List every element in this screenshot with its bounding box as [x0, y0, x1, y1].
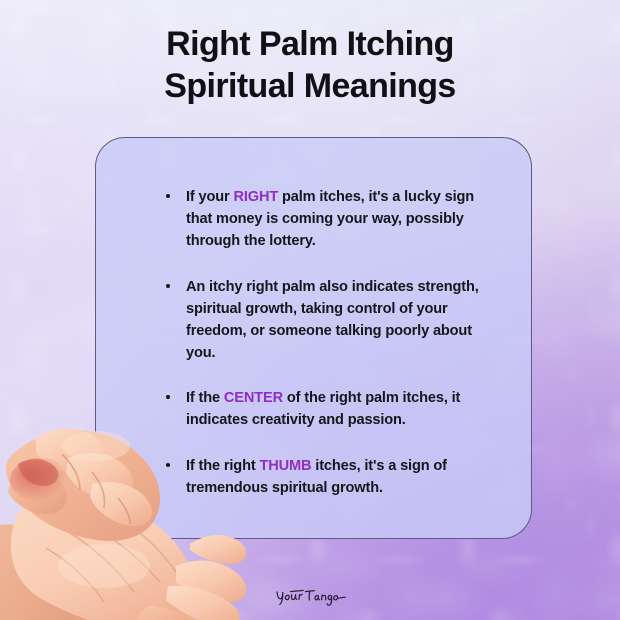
- bullet-item: If your RIGHT palm itches, it's a lucky …: [164, 186, 494, 253]
- bullet-text-segment: If your: [186, 189, 233, 205]
- hand-scratching-palm-photo: [0, 380, 246, 620]
- bullet-dot-icon: [166, 194, 170, 198]
- bullet-text: If your RIGHT palm itches, it's a lucky …: [186, 189, 474, 249]
- bullet-text: An itchy right palm also indicates stren…: [186, 279, 479, 362]
- page-title: Right Palm Itching Spiritual Meanings: [0, 24, 620, 108]
- yourtango-logo: [274, 583, 348, 609]
- highlighted-keyword: THUMB: [259, 458, 311, 474]
- page-title-line-2: Spiritual Meanings: [0, 66, 620, 108]
- bullet-dot-icon: [166, 284, 170, 288]
- bullet-item: An itchy right palm also indicates stren…: [164, 276, 494, 365]
- bullet-text-segment: An itchy right palm also indicates stren…: [186, 279, 479, 362]
- highlighted-keyword: RIGHT: [233, 189, 278, 205]
- page-title-line-1: Right Palm Itching: [0, 24, 620, 66]
